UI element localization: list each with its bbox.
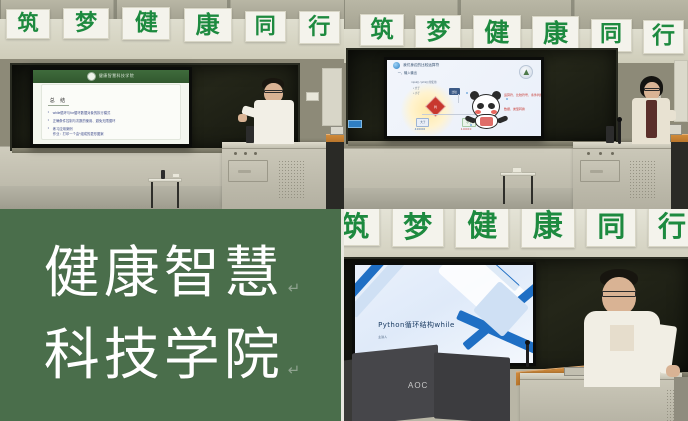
- monitor-back: [434, 352, 510, 421]
- sun-glow-decoration: [401, 83, 455, 137]
- lectern-speaker-grille: [278, 160, 304, 198]
- microphone: [618, 120, 621, 144]
- slide-side-text: 数据、类型转换: [504, 107, 525, 111]
- slide-bullet-list: while循环与for循环数据对象的执行模式 正确条件控制与次数的使用、避免无限…: [48, 112, 174, 137]
- slide-note: input() / print() 的使用: [412, 80, 437, 84]
- banner-top-right: 筑 梦 健 康 同 行: [360, 12, 684, 48]
- desk-front: [671, 142, 688, 209]
- slide-python-while: Python循环结构while 主讲人: [355, 265, 533, 363]
- slide-header-text: 我们身边的比较运算符: [403, 63, 439, 68]
- arm: [662, 110, 676, 121]
- slide-subheader: 一、输入输出: [398, 70, 417, 75]
- slide-number-left: 40000: [415, 127, 426, 131]
- title-text-line-1: 健康智慧: [44, 246, 284, 302]
- banner-char: 梦: [415, 15, 461, 48]
- hand: [666, 365, 680, 377]
- college-logo-icon: [88, 73, 95, 80]
- slide-title: Python循环结构while: [378, 320, 455, 330]
- title-text-line-2: 科技学院: [44, 328, 284, 384]
- slide-header-bar: 健康智慧科技学院: [33, 70, 189, 83]
- banner-char: 梦: [63, 8, 109, 39]
- banner-char: 康: [184, 8, 232, 42]
- lectern-knob: [599, 152, 602, 155]
- projector-screen: 我们身边的比较运算符 一、输入输出 input() / print() 的使用 …: [384, 57, 544, 139]
- side-table: [500, 172, 536, 204]
- lectern-knob: [587, 152, 590, 155]
- classroom-scene-2: 筑 梦 健 康 同 行 我们身边的比较运算符 一、输入输出: [344, 0, 688, 209]
- drawer-handle: [590, 170, 603, 173]
- panel-top-left: 筑 梦 健 康 同 行 健康智慧科技学院: [0, 0, 344, 209]
- banner-char: 行: [299, 11, 340, 44]
- green-title-panel: 健康智慧 ↵ 科技学院 ↵: [0, 209, 344, 421]
- lectern: [573, 142, 671, 209]
- panda-arm: [496, 116, 508, 125]
- wall-plate: [306, 92, 319, 101]
- torso-shirt: [254, 100, 294, 144]
- slide-note: • 小于: [413, 91, 420, 95]
- banner-char: 行: [648, 209, 688, 247]
- lectern-knob: [244, 152, 247, 155]
- slide-node-left: 大于: [416, 118, 429, 127]
- banner-char: 行: [643, 20, 684, 54]
- banner-char: 筑: [6, 9, 50, 39]
- slide-bullet-text: 练习应用案例: [53, 127, 73, 131]
- lectern-knob: [611, 152, 614, 155]
- banner-char: 梦: [392, 209, 444, 247]
- speaker-male-1: [246, 78, 304, 144]
- slide-homework: 作业：打印一个由*组成的菱形图案: [53, 133, 174, 137]
- tshirt-print: [610, 325, 634, 351]
- paragraph-mark-icon: ↵: [288, 363, 301, 378]
- panel-bottom-left: 健康智慧 ↵ 科技学院 ↵: [0, 209, 344, 421]
- side-table: [148, 178, 182, 208]
- slide-body: 总 结 while循环与for循环数据对象的执行模式 正确条件控制与次数的使用、…: [41, 84, 181, 140]
- board-sticker: [348, 120, 362, 128]
- table-leg: [503, 176, 505, 204]
- classroom-scene-3: 筑 梦 健 康 同 行 Pytho: [344, 209, 688, 421]
- slide-bullet-icon: [393, 62, 400, 69]
- lectern-knob: [234, 152, 237, 155]
- diamond-label: 判: [429, 100, 442, 113]
- desk-surface: [326, 134, 344, 142]
- slide-bullet: while循环与for循环数据对象的执行模式: [48, 112, 174, 116]
- slide-comparison: 我们身边的比较运算符 一、输入输出 input() / print() 的使用 …: [387, 60, 541, 136]
- banner-char: 同: [245, 11, 286, 42]
- sparkle: [506, 98, 508, 100]
- glasses: [644, 88, 660, 91]
- paragraph-mark-icon: ↵: [288, 281, 301, 296]
- projector-screen: 健康智慧科技学院 总 结 while循环与for循环数据对象的执行模式 正确条件…: [30, 67, 192, 147]
- title-line-2: 科技学院 ↵: [0, 328, 344, 384]
- glasses: [602, 291, 636, 297]
- sparkle: [470, 124, 472, 126]
- slide-note: • 大于: [413, 86, 420, 90]
- slide-side-text: 运算符、比较符号、条件判断: [504, 93, 543, 97]
- panel-bottom-right: 筑 梦 健 康 同 行 Pytho: [344, 209, 688, 421]
- banner-char: 康: [521, 209, 575, 248]
- sparkle: [466, 92, 468, 94]
- panda-vest: [480, 117, 493, 126]
- laptop: [330, 126, 344, 135]
- panel-top-right: 筑 梦 健 康 同 行 我们身边的比较运算符 一、输入输出: [344, 0, 688, 209]
- water-bottle: [161, 170, 165, 179]
- table-leg: [177, 182, 179, 208]
- speaker-female-1: [624, 76, 676, 144]
- slide-bullet: 正确条件控制与次数的使用、避免无限循环: [48, 120, 174, 124]
- slide-bullet: 练习应用案例 作业：打印一个由*组成的菱形图案: [48, 128, 174, 136]
- lectern-speaker-grille: [629, 160, 655, 198]
- college-badge-icon: [519, 65, 533, 79]
- table-leg: [531, 176, 533, 204]
- banner-char: 同: [586, 209, 636, 247]
- paper-sheet: [512, 167, 522, 173]
- banner-char: 筑: [344, 209, 380, 246]
- hand: [238, 114, 247, 122]
- microphone: [526, 343, 529, 367]
- wall-cabinet: [322, 68, 342, 126]
- side-desk: [674, 377, 688, 421]
- banner-top-left: 筑 梦 健 康 同 行: [6, 7, 340, 40]
- monitor-brand-label: AOC: [408, 381, 428, 390]
- scarf: [646, 100, 657, 138]
- banner-char: 筑: [360, 14, 404, 46]
- slide-title: 总 结: [48, 97, 69, 106]
- banner-char: 康: [532, 16, 579, 51]
- slide-header: 我们身边的比较运算符: [393, 62, 439, 69]
- speaker-male-2: [572, 269, 682, 387]
- lectern: [222, 142, 326, 209]
- banner-char: 健: [122, 7, 170, 40]
- photo-collage: 筑 梦 健 康 同 行 健康智慧科技学院: [0, 0, 688, 421]
- table-leg: [151, 182, 153, 208]
- drawer-handle: [238, 170, 251, 173]
- banner-char: 健: [473, 15, 521, 50]
- lectern-knob: [254, 152, 257, 155]
- classroom-scene-1: 筑 梦 健 康 同 行 健康智慧科技学院: [0, 0, 344, 209]
- slide-summary: 健康智慧科技学院 总 结 while循环与for循环数据对象的执行模式 正确条件…: [33, 70, 189, 144]
- banner-char: 同: [591, 19, 632, 52]
- title-line-1: 健康智慧 ↵: [0, 246, 344, 302]
- glasses: [264, 90, 283, 93]
- slide-org-name: 健康智慧科技学院: [99, 73, 134, 79]
- connector-line: [458, 94, 459, 103]
- banner-bottom-right: 筑 梦 健 康 同 行: [344, 209, 688, 247]
- desk-cup: [606, 126, 614, 143]
- decision-diamond: 判: [426, 97, 444, 115]
- paper-sheet: [172, 173, 180, 178]
- wall-cabinet: [674, 60, 688, 122]
- desk-front: [326, 142, 344, 209]
- banner-char: 健: [455, 209, 509, 248]
- slide-subtitle: 主讲人: [378, 335, 387, 339]
